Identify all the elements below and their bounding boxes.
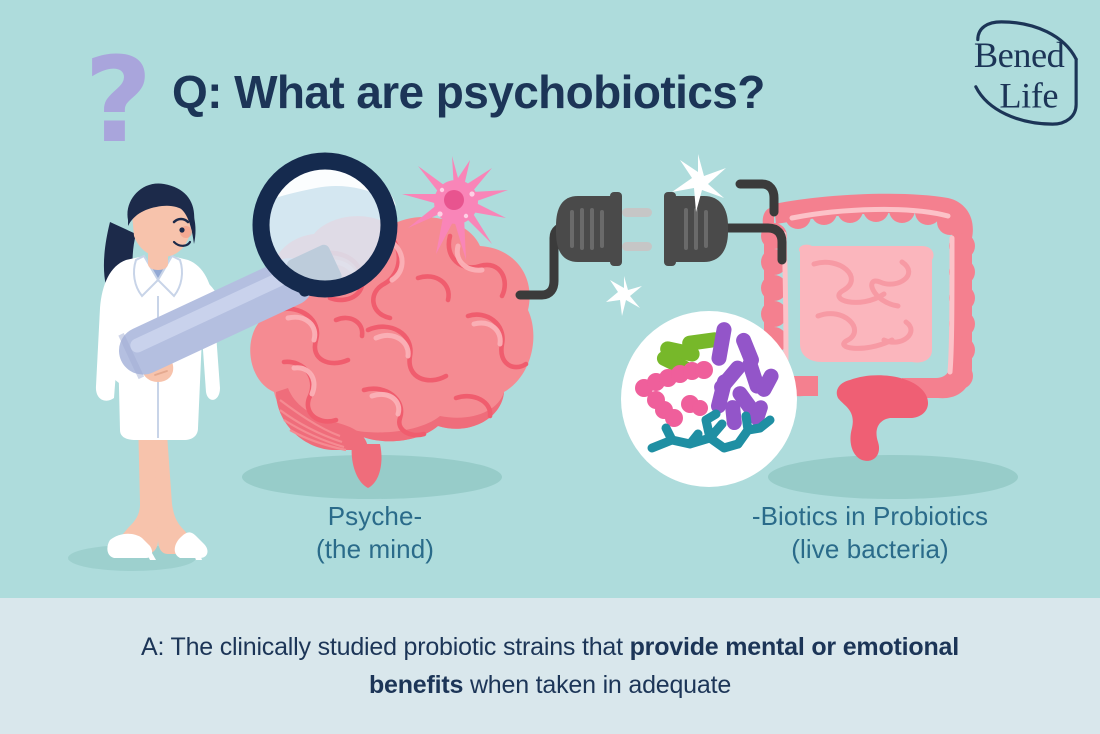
logo-line-1: Bened xyxy=(974,35,1065,75)
bacteria-petri-icon xyxy=(618,308,800,490)
caption-left-line-1: Psyche- xyxy=(240,500,510,533)
caption-left: Psyche- (the mind) xyxy=(240,500,510,566)
caption-right-line-1: -Biotics in Probiotics xyxy=(700,500,1040,533)
caption-left-line-2: (the mind) xyxy=(240,533,510,566)
answer-part-2: when taken in adequate xyxy=(463,671,731,699)
magnifying-glass-icon xyxy=(100,150,410,400)
logo-line-2: Life xyxy=(999,75,1058,115)
answer-part-1: A: The clinically studied probiotic stra… xyxy=(141,633,630,661)
page-title: Q: What are psychobiotics? xyxy=(172,64,942,120)
neuron-icon xyxy=(396,150,516,270)
caption-right: -Biotics in Probiotics (live bacteria) xyxy=(700,500,1040,566)
bened-life-logo: Bened Life xyxy=(966,14,1084,132)
caption-right-line-2: (live bacteria) xyxy=(700,533,1040,566)
infographic-poster: ? Q: What are psychobiotics? Bened Life xyxy=(0,0,1100,734)
answer-text: A: The clinically studied probiotic stra… xyxy=(110,628,990,704)
unplugged-connector-icon xyxy=(520,150,850,330)
question-mark-icon: ? xyxy=(84,44,164,159)
